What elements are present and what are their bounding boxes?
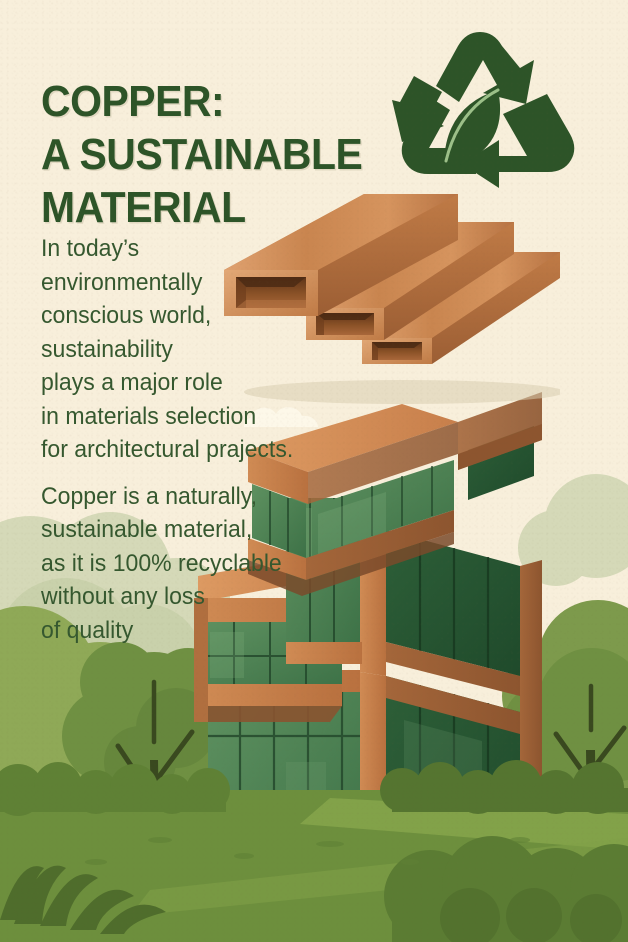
p1-line-5: plays a major role [41,366,329,400]
p2-line-1: Copper is a naturally, [41,480,329,514]
p1-line-1: In today’s [41,232,329,266]
p2-line-4: without any loss [41,580,329,614]
title-line-3: MATERIAL [41,181,362,234]
shrub-row-right [380,760,628,814]
p1-line-7: for architectural prajects. [41,433,329,467]
p2-line-3: as it is 100% recyclable [41,547,329,581]
paragraph-2: Copper is a naturally, sustainable mater… [41,480,329,648]
p2-line-5: of quality [41,614,329,648]
p1-line-2: environmentally [41,266,329,300]
recycling-symbol [384,30,592,202]
p1-line-3: conscious world, [41,299,329,333]
title-line-2: A SUSTAINABLE [41,128,362,181]
p2-line-2: sustainable material, [41,513,329,547]
poster-canvas: COPPER: A SUSTAINABLE MATERIAL In today’… [0,0,628,942]
title-line-1: COPPER: [41,75,362,128]
p1-line-4: sustainability [41,333,329,367]
p1-line-6: in materials selection [41,400,329,434]
foreground-bush-shade [440,888,622,942]
paragraph-1: In today’s environmentally conscious wor… [41,232,329,467]
body-copy: In today’s environmentally conscious wor… [41,232,329,647]
foreground-landscape [0,600,628,942]
shrub-row-left [0,762,230,816]
page-title: COPPER: A SUSTAINABLE MATERIAL [41,75,362,234]
